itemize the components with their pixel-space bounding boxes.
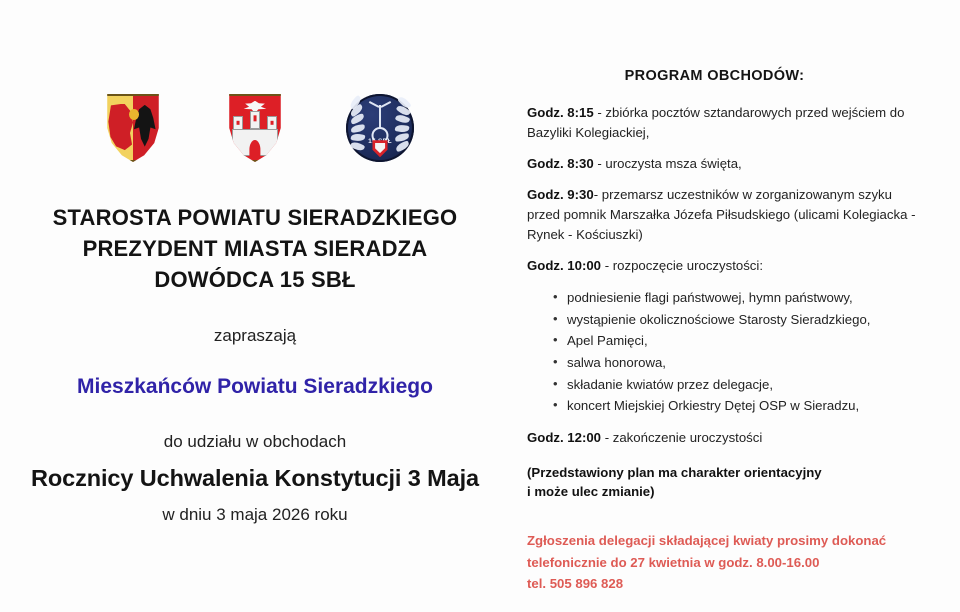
badge-shield-icon [373, 140, 388, 157]
list-item: składanie kwiatów przez delegacje, [553, 374, 920, 396]
shield-outline [105, 94, 161, 162]
right-column: PROGRAM OBCHODÓW: Godz. 8:15 - zbiórka p… [510, 0, 960, 612]
list-item: salwa honorowa, [553, 352, 920, 374]
organizer-line: PREZYDENT MIASTA SIERADZA [18, 233, 492, 264]
program-item: Godz. 10:00 - rozpoczęcie uroczystości: [527, 256, 920, 276]
invite-verb: zapraszają [18, 326, 492, 346]
program-item-text: - zakończenie uroczystości [601, 430, 762, 445]
list-item: wystąpienie okolicznościowe Starosty Sie… [553, 309, 920, 331]
program-item: Godz. 8:15 - zbiórka pocztów sztandarowy… [527, 103, 920, 143]
laurel-wreath-right-icon [392, 104, 410, 153]
occasion-title: Rocznicy Uchwalenia Konstytucji 3 Maja [18, 465, 492, 492]
program-item-time: Godz. 12:00 [527, 430, 601, 445]
program-item-time: Godz. 10:00 [527, 258, 601, 273]
list-item: podniesienie flagi państwowej, hymn pańs… [553, 287, 920, 309]
brygada-15-sbl-badge-icon: 15 SBŁ [346, 94, 408, 166]
program-item-time: Godz. 8:30 [527, 156, 594, 171]
left-text-block: STAROSTA POWIATU SIERADZKIEGO PREZYDENT … [0, 202, 510, 525]
organizer-line: DOWÓDCA 15 SBŁ [18, 264, 492, 295]
plan-disclaimer: (Przedstawiony plan ma charakter orienta… [527, 463, 920, 503]
disclaimer-line: (Przedstawiony plan ma charakter orienta… [527, 463, 920, 483]
list-item: Apel Pamięci, [553, 330, 920, 352]
addressee: Mieszkańców Powiatu Sieradzkiego [18, 375, 492, 399]
program-item-closing: Godz. 12:00 - zakończenie uroczystości [527, 428, 920, 448]
disclaimer-line: i może ulec zmianie) [527, 482, 920, 502]
left-column: 15 SBŁ STAROSTA POWIATU SIERADZKIEGO PRE… [0, 0, 510, 612]
program-item: Godz. 8:30 - uroczysta msza święta, [527, 154, 920, 174]
contact-phone: tel. 505 896 828 [527, 573, 920, 594]
invitation-poster: 15 SBŁ STAROSTA POWIATU SIERADZKIEGO PRE… [0, 0, 960, 612]
contact-line: Zgłoszenia delegacji składającej kwiaty … [527, 530, 920, 551]
program-item-time: Godz. 8:15 [527, 105, 594, 120]
event-date: w dniu 3 maja 2026 roku [18, 505, 492, 525]
program-item-text: - rozpoczęcie uroczystości: [601, 258, 763, 273]
program-item-text: - uroczysta msza święta, [594, 156, 742, 171]
powiat-sieradzki-crest-icon [102, 94, 164, 166]
miasto-sieradz-crest-icon [224, 94, 286, 166]
ceremony-sub-list: podniesienie flagi państwowej, hymn pańs… [527, 287, 920, 416]
laurel-wreath-left-icon [351, 104, 369, 153]
contact-notice: Zgłoszenia delegacji składającej kwiaty … [527, 530, 920, 594]
program-item: Godz. 9:30- przemarsz uczestników w zorg… [527, 185, 920, 245]
participation-line: do udziału w obchodach [18, 432, 492, 452]
antenna-icon [379, 105, 381, 128]
shield-outline [227, 94, 283, 162]
emblem-row: 15 SBŁ [0, 0, 510, 166]
list-item: koncert Miejskiej Orkiestry Dętej OSP w … [553, 395, 920, 417]
organizers-block: STAROSTA POWIATU SIERADZKIEGO PREZYDENT … [18, 202, 492, 296]
program-title: PROGRAM OBCHODÓW: [527, 68, 920, 84]
organizer-line: STAROSTA POWIATU SIERADZKIEGO [18, 202, 492, 233]
program-item-time: Godz. 9:30 [527, 187, 594, 202]
contact-line: telefonicznie do 27 kwietnia w godz. 8.0… [527, 552, 920, 573]
